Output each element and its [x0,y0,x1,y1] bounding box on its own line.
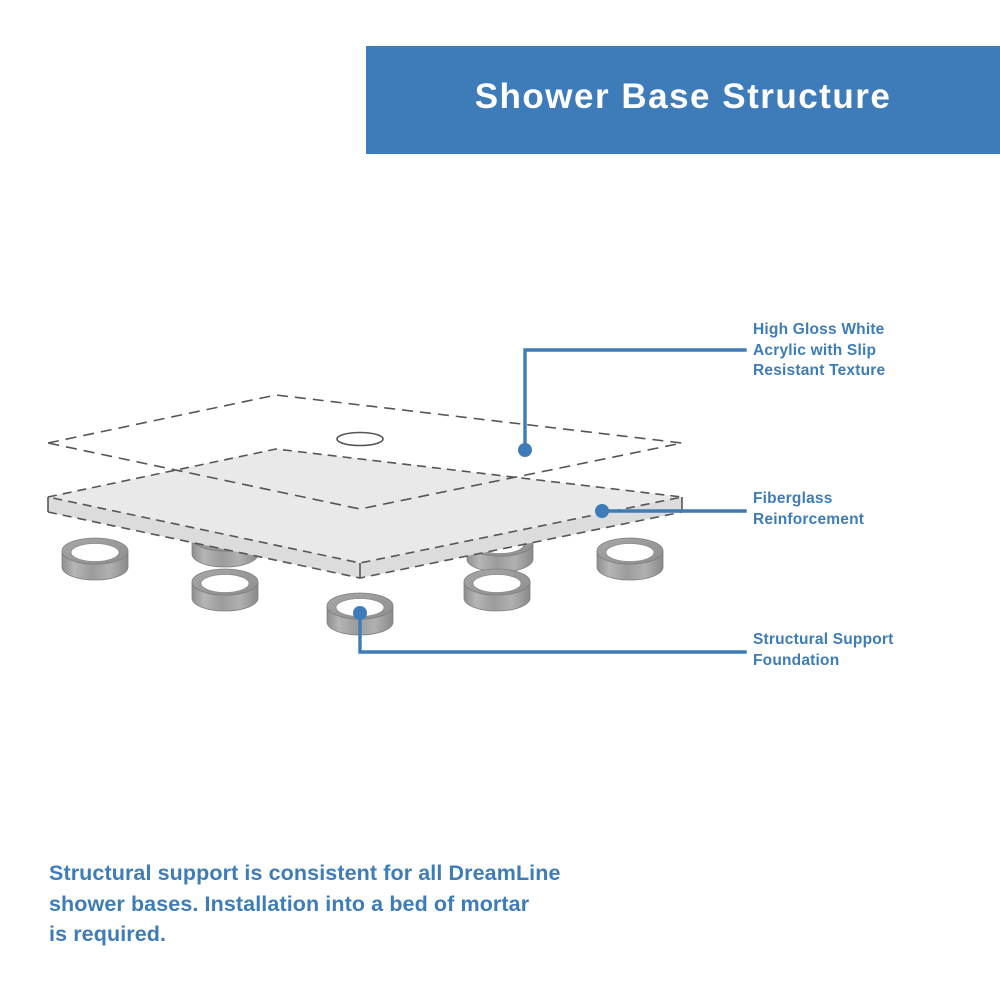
callout-leader-support [353,606,745,652]
fiberglass-slab [48,449,682,578]
support-ring [464,569,530,611]
leader-dot [595,504,609,518]
support-ring [62,538,128,580]
leader-dot [518,443,532,457]
leader-dot [353,606,367,620]
callout-label-support: Structural Support Foundation [753,630,983,671]
drain-opening-icon [337,433,383,446]
support-ring [597,538,663,580]
diagram-page: Shower Base Structure [0,0,1000,1000]
footer-note: Structural support is consistent for all… [49,858,689,950]
callout-leader-acrylic [518,350,745,457]
callout-label-acrylic: High Gloss White Acrylic with Slip Resis… [753,320,983,382]
support-ring [192,569,258,611]
callout-label-fiberglass: Fiberglass Reinforcement [753,489,983,530]
